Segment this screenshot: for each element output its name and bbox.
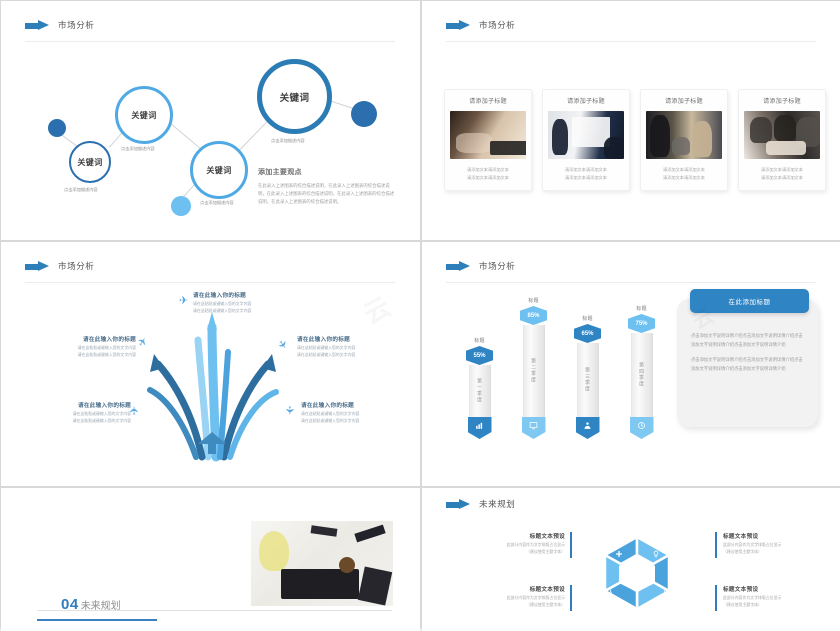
- link-icon: [663, 587, 671, 595]
- stream-label-title: 请在此输入你的标题: [26, 401, 131, 409]
- plan-accent-bar: [570, 532, 572, 558]
- slide-header-title: 市场分析: [58, 19, 94, 31]
- card-photo: [548, 111, 624, 159]
- info-panel-body: 点击添加文字说明详情介绍点击添加文字说明详情介绍点击添加文字说明详情介绍点击添加…: [691, 332, 805, 380]
- card-body: 请添加文本请添加文本请添加文本请添加文本: [744, 166, 820, 182]
- keyword-caption: 点击添加描述内容: [121, 146, 155, 152]
- monitor-icon: [529, 421, 538, 430]
- airplane-icon: ✈: [179, 296, 188, 307]
- card-body: 请添加文本请添加文本请添加文本请添加文本: [548, 166, 624, 182]
- card-title: 请添加子标题: [744, 96, 820, 105]
- header-divider: [25, 41, 395, 42]
- bar-value-hex: 85%: [520, 306, 547, 325]
- card-list: 请添加子标题 请添加文本请添加文本请添加文本请添加文本 请添加子标题 请添加文本: [444, 89, 826, 191]
- keyword-label: 关键词: [77, 157, 102, 168]
- card-item[interactable]: 请添加子标题 请添加文本请添加文本请添加文本请添加文本: [738, 89, 826, 191]
- keyword-label: 关键词: [131, 110, 156, 121]
- stream-label-title: 请在此输入你的标题: [31, 335, 136, 343]
- bar-caption: 标题: [520, 297, 547, 304]
- bar-category-label: 第四季度: [638, 333, 645, 417]
- slide-header: 未来规划: [446, 498, 515, 510]
- slide-3-market-analysis-streams[interactable]: 市场分析 ✈ ✈ ✈ ✈ ✈ ✈ 请在此输入你的标题 请在这粘贴或键输入您的文字…: [1, 242, 420, 486]
- stream-label-title: 请在此输入你的标题: [301, 401, 406, 409]
- bar-value-label: 75%: [635, 321, 647, 327]
- bar-footer: [576, 417, 600, 439]
- plan-text-block[interactable]: 标题文本预设 此部分内容作为文字排版占位显示（建议使用主题字体）: [467, 585, 565, 609]
- card-body: 请添加文本请添加文本请添加文本请添加文本: [450, 166, 526, 182]
- plan-accent-bar: [715, 585, 717, 611]
- slide-5-section-divider[interactable]: 04 未来规划: [1, 488, 420, 631]
- keyword-label: 关键词: [206, 165, 231, 176]
- plan-text-block[interactable]: 标题文本预设 此部分内容作为文字排版占位显示（建议使用主题字体）: [723, 585, 821, 609]
- slide-header-title: 市场分析: [479, 260, 515, 272]
- keyword-caption: 点击添加描述内容: [200, 200, 234, 206]
- arrow-right-icon: [25, 261, 49, 272]
- bar-footer: [522, 417, 546, 439]
- stream-label-body: 请在这粘贴或键输入您的文字内容请在这粘贴或键输入您的文字内容: [193, 301, 298, 315]
- stream-label[interactable]: 请在此输入你的标题 请在这粘贴或键输入您的文字内容请在这粘贴或键输入您的文字内容: [301, 401, 406, 425]
- card-item[interactable]: 请添加子标题 请添加文本请添加文本请添加文本请添加文本: [444, 89, 532, 191]
- arrow-right-icon: [446, 499, 470, 510]
- slide-header: 市场分析: [25, 19, 94, 31]
- bar-value-hex: 75%: [628, 314, 655, 333]
- summary-text-block: 添加主要观点 在此录入上述图表的综合描述说明，在此录入上述图表的综合描述说明，在…: [258, 167, 398, 206]
- bar-chart-icon: [475, 421, 484, 430]
- keyword-circle-medium[interactable]: 关键词: [115, 86, 173, 144]
- info-panel-paragraph: 点击添加文字说明详情介绍点击添加文字说明详情介绍点击添加文字说明详情介绍点击添加…: [691, 356, 805, 373]
- header-divider: [446, 41, 816, 42]
- slide-header-title: 未来规划: [479, 498, 515, 510]
- bar-category-label: 第三季度: [584, 343, 591, 417]
- card-title: 请添加子标题: [450, 96, 526, 105]
- bar-category-label: 第二季度: [530, 325, 537, 417]
- bar-value-label: 65%: [581, 331, 593, 337]
- bar-column[interactable]: 标题 85% 第二季度: [520, 297, 547, 439]
- plan-text-block[interactable]: 标题文本预设 此部分内容作为文字排版占位显示（建议使用主题字体）: [467, 532, 565, 556]
- arrow-right-icon: [25, 20, 49, 31]
- card-item[interactable]: 请添加子标题 请添加文本请添加文本请添加文本请添加文本: [542, 89, 630, 191]
- slide-4-market-analysis-bars[interactable]: 市场分析 标题 55% 第一季度 标题 85% 第二季度: [422, 242, 840, 486]
- keyword-caption: 点击添加描述内容: [64, 187, 98, 193]
- summary-title: 添加主要观点: [258, 167, 398, 177]
- keyword-circle-small[interactable]: 关键词: [69, 141, 111, 183]
- arrow-right-icon: [446, 261, 470, 272]
- medical-cross-icon: [615, 550, 623, 558]
- arrow-right-icon: [446, 20, 470, 31]
- bar-value-hex: 55%: [466, 346, 493, 365]
- bar-tube: 第二季度: [523, 325, 545, 417]
- card-photo: [646, 111, 722, 159]
- bar-caption: 标题: [574, 315, 601, 322]
- bar-tube: 第四季度: [631, 333, 653, 417]
- watermark: 云: [356, 285, 399, 331]
- section-photo: [251, 521, 393, 606]
- slide-header: 市场分析: [25, 260, 94, 272]
- plan-title: 标题文本预设: [467, 532, 565, 540]
- bar-caption: 标题: [628, 305, 655, 312]
- plan-title: 标题文本预设: [467, 585, 565, 593]
- section-number: 04: [61, 596, 79, 613]
- headphones-icon: [604, 587, 612, 595]
- plan-body: 此部分内容作为文字排版占位显示（建议使用主题字体）: [467, 542, 565, 556]
- accent-dot: [171, 196, 191, 216]
- section-title-group: 04 未来规划: [61, 596, 121, 613]
- info-panel[interactable]: 在此添加标题 点击添加文字说明详情介绍点击添加文字说明详情介绍点击添加文字说明详…: [677, 299, 818, 427]
- lightbulb-icon: [652, 550, 660, 558]
- stream-label[interactable]: 请在此输入你的标题 请在这粘贴或键输入您的文字内容请在这粘贴或键输入您的文字内容: [297, 335, 402, 359]
- stream-label-body: 请在这粘贴或键输入您的文字内容请在这粘贴或键输入您的文字内容: [31, 345, 136, 359]
- stream-label-body: 请在这粘贴或键输入您的文字内容请在这粘贴或键输入您的文字内容: [301, 411, 406, 425]
- header-divider: [446, 282, 816, 283]
- slide-header-title: 市场分析: [479, 19, 515, 31]
- thumbs-up-icon: [652, 608, 660, 616]
- accent-dot: [48, 119, 66, 137]
- plan-title: 标题文本预设: [723, 532, 821, 540]
- hexagon-ring-diagram[interactable]: [592, 533, 682, 628]
- hex-icon-slot: [639, 595, 672, 628]
- user-icon: [583, 421, 592, 430]
- keyword-circle-medium-2[interactable]: 关键词: [190, 141, 248, 199]
- bar-value-label: 85%: [527, 313, 539, 319]
- slide-6-future-plan-hexagon[interactable]: 未来规划 标题文本预设 此部分内容作为文字排版占位显示（建议使用主题字体） 标题…: [422, 488, 840, 631]
- section-title: 未来规划: [81, 597, 121, 612]
- stream-label-body: 请在这粘贴或键输入您的文字内容请在这粘贴或键输入您的文字内容: [297, 345, 402, 359]
- bar-column[interactable]: 标题 65% 第三季度: [574, 315, 601, 439]
- bar-column[interactable]: 标题 55% 第一季度: [466, 337, 493, 439]
- bar-value-label: 55%: [473, 353, 485, 359]
- bar-category-label: 第一季度: [476, 365, 483, 417]
- card-body: 请添加文本请添加文本请添加文本请添加文本: [646, 166, 722, 182]
- plan-text-block[interactable]: 标题文本预设 此部分内容作为文字排版占位显示（建议使用主题字体）: [723, 532, 821, 556]
- card-title: 请添加子标题: [646, 96, 722, 105]
- info-panel-paragraph: 点击添加文字说明详情介绍点击添加文字说明详情介绍点击添加文字说明详情介绍点击添加…: [691, 332, 805, 349]
- hex-icon-slot: [591, 574, 624, 607]
- card-title: 请添加子标题: [548, 96, 624, 105]
- keyword-caption: 点击添加描述内容: [271, 138, 305, 144]
- plan-body: 此部分内容作为文字排版占位显示（建议使用主题字体）: [723, 595, 821, 609]
- bar-value-hex: 65%: [574, 324, 601, 343]
- card-item[interactable]: 请添加子标题 请添加文本请添加文本请添加文本请添加文本: [640, 89, 728, 191]
- info-panel-title: 在此添加标题: [729, 296, 771, 306]
- slide-header: 市场分析: [446, 260, 515, 272]
- keyword-circle-large[interactable]: 关键词: [257, 59, 332, 134]
- card-photo: [744, 111, 820, 159]
- plan-title: 标题文本预设: [723, 585, 821, 593]
- plan-body: 此部分内容作为文字排版占位显示（建议使用主题字体）: [467, 595, 565, 609]
- airplane-icon: ✈: [130, 406, 141, 415]
- slide-grid: 市场分析 关键词 点击添加描述内容 关键词 点击添加描述内容 关键词 点击添加描…: [0, 0, 840, 628]
- refresh-icon: [637, 421, 646, 430]
- summary-body: 在此录入上述图表的综合描述说明，在此录入上述图表的综合描述说明，在此录入上述图表…: [258, 182, 398, 206]
- bar-footer: [468, 417, 492, 439]
- stream-label-title: 请在此输入你的标题: [193, 291, 298, 299]
- card-photo: [450, 111, 526, 159]
- bar-tube: 第一季度: [469, 365, 491, 417]
- bar-caption: 标题: [466, 337, 493, 344]
- bar-chart-icon: [615, 608, 623, 616]
- slide-2-market-analysis-cards[interactable]: 市场分析 请添加子标题 请添加文本请添加文本请添加文本请添加文本 请添加子标题: [422, 1, 840, 240]
- hex-icon-slot: [639, 537, 672, 570]
- slide-header-title: 市场分析: [58, 260, 94, 272]
- keyword-label: 关键词: [280, 90, 310, 104]
- plan-accent-bar: [570, 585, 572, 611]
- plan-accent-bar: [715, 532, 717, 558]
- slide-header: 市场分析: [446, 19, 515, 31]
- accent-dot: [351, 101, 377, 127]
- section-underline: [37, 619, 157, 621]
- bar-column[interactable]: 标题 75% 第四季度: [628, 305, 655, 439]
- plan-body: 此部分内容作为文字排版占位显示（建议使用主题字体）: [723, 542, 821, 556]
- stream-label[interactable]: 请在此输入你的标题 请在这粘贴或键输入您的文字内容请在这粘贴或键输入您的文字内容: [193, 291, 298, 315]
- bar-tube: 第三季度: [577, 343, 599, 417]
- stream-label[interactable]: 请在此输入你的标题 请在这粘贴或键输入您的文字内容请在这粘贴或键输入您的文字内容: [26, 401, 131, 425]
- stream-label-body: 请在这粘贴或键输入您的文字内容请在这粘贴或键输入您的文字内容: [26, 411, 131, 425]
- airplane-icon: ✈: [283, 406, 294, 415]
- hex-icon-slot: [602, 537, 635, 570]
- bar-footer: [630, 417, 654, 439]
- stream-label-title: 请在此输入你的标题: [297, 335, 402, 343]
- stream-label[interactable]: 请在此输入你的标题 请在这粘贴或键输入您的文字内容请在这粘贴或键输入您的文字内容: [31, 335, 136, 359]
- slide-1-market-analysis-circles[interactable]: 市场分析 关键词 点击添加描述内容 关键词 点击添加描述内容 关键词 点击添加描…: [1, 1, 420, 240]
- info-panel-header[interactable]: 在此添加标题: [690, 289, 809, 313]
